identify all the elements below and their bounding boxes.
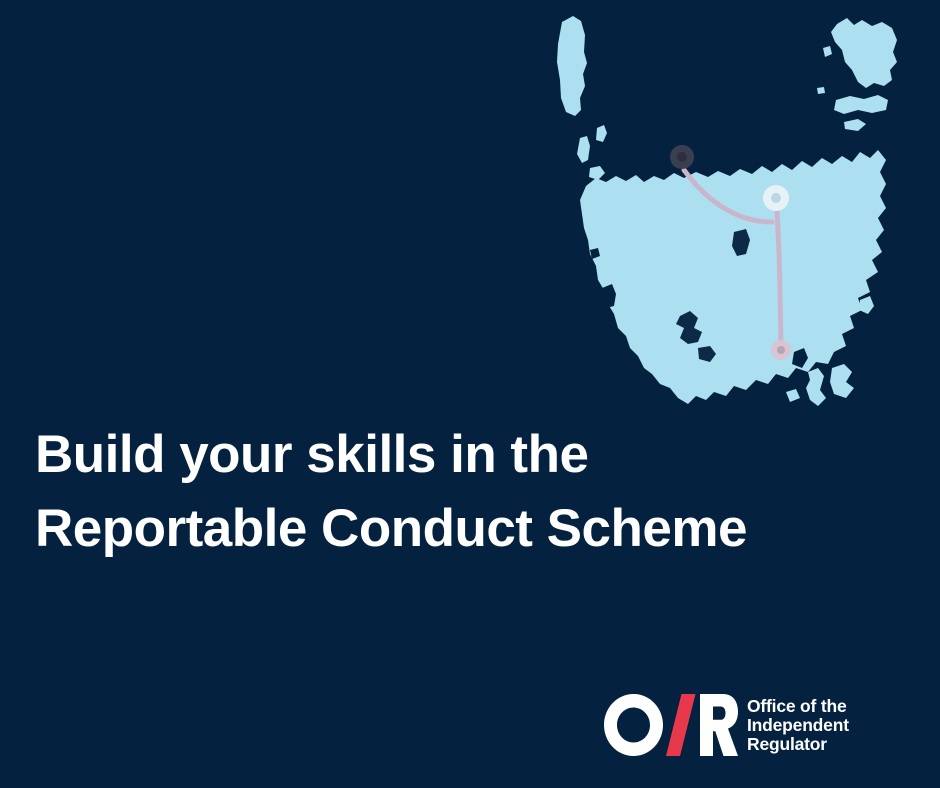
oir-logo-wordmark: Office of the Independent Regulator [747,696,849,754]
hunter-island-shape [596,125,607,142]
maria-island-shape [859,296,874,314]
hobart-marker-inner [777,346,785,354]
lake-gordon-shape [676,311,702,344]
west-coast-inlet-shape [590,248,600,259]
tasman-peninsula-shape [830,364,854,398]
king-island-shape [557,16,587,116]
oir-logo-mark [604,694,738,756]
devonport-marker-icon [670,145,694,169]
lake-pedder-shape [698,346,716,362]
wordmark-line-2: Independent [747,716,849,735]
headline-line-2: Reportable Conduct Scheme [35,492,915,566]
devonport-marker-inner [677,152,687,162]
flinders-islet-shape [823,46,832,57]
route-launceston-hobart [776,198,781,348]
wordmark-line-1: Office of the [747,697,849,716]
oir-logo: Office of the Independent Regulator [604,694,849,756]
tasmania-map-graphic [540,0,940,470]
derwent-estuary-shape [792,348,808,368]
launceston-marker-icon [763,185,789,211]
logo-letter-r [700,694,738,756]
flinders-island-shape [831,18,897,88]
great-lake-shape [732,229,750,256]
route-devonport-launceston [684,170,772,222]
logo-letter-o [604,694,663,756]
bruny-island-shape [806,368,826,406]
logo-slash [666,694,696,756]
clarke-island-shape [844,119,866,131]
small-islet-shape [817,87,825,94]
wordmark-line-3: Regulator [747,735,849,754]
headline-block: Build your skills in the Reportable Cond… [35,418,915,566]
macquarie-harbour-shape [600,284,616,308]
cape-barren-island-shape [834,95,888,114]
three-hummock-island-shape [577,136,590,163]
promo-card: Build your skills in the Reportable Cond… [0,0,940,788]
robbins-island-shape [589,166,605,180]
tasmania-mainland-shape [580,150,886,404]
southern-islet-shape [786,389,800,402]
headline-line-1: Build your skills in the [35,418,915,492]
hobart-marker-icon [771,340,791,360]
launceston-marker-inner [771,193,781,203]
